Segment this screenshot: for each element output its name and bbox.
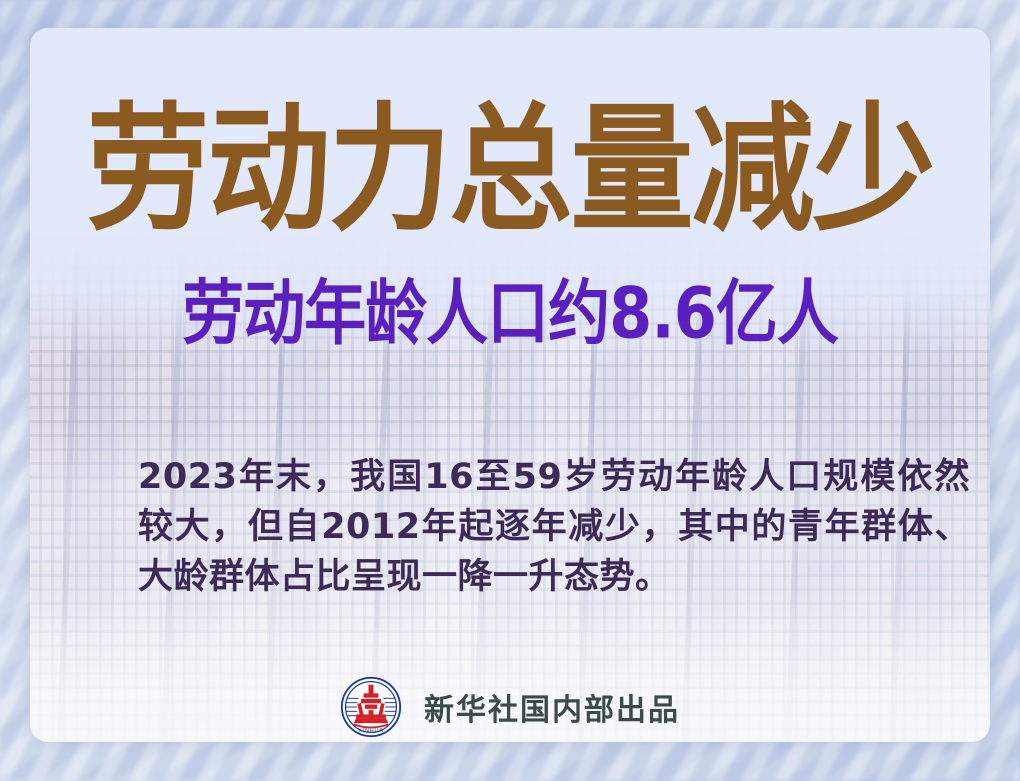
infographic-poster: 劳动力总量减少 劳动年龄人口约8.6亿人 2023年末，我国16至59岁劳动年龄… bbox=[0, 0, 1020, 781]
poster-headline: 劳动力总量减少 bbox=[30, 102, 990, 240]
poster-footer: XINHUA 新华社国内部出品 bbox=[30, 676, 990, 738]
poster-content: 劳动力总量减少 劳动年龄人口约8.6亿人 2023年末，我国16至59岁劳动年龄… bbox=[30, 28, 990, 742]
logo-ring-text: XINHUA bbox=[358, 728, 384, 734]
poster-body-text: 2023年末，我国16至59岁劳动年龄人口规模依然较大，但自2012年起逐年减少… bbox=[138, 452, 970, 602]
poster-subheadline: 劳动年龄人口约8.6亿人 bbox=[30, 278, 990, 349]
content-card: 劳动力总量减少 劳动年龄人口约8.6亿人 2023年末，我国16至59岁劳动年龄… bbox=[30, 28, 990, 742]
xinhua-agency-logo-icon: XINHUA bbox=[340, 676, 402, 738]
footer-attribution-text: 新华社国内部出品 bbox=[424, 685, 680, 729]
